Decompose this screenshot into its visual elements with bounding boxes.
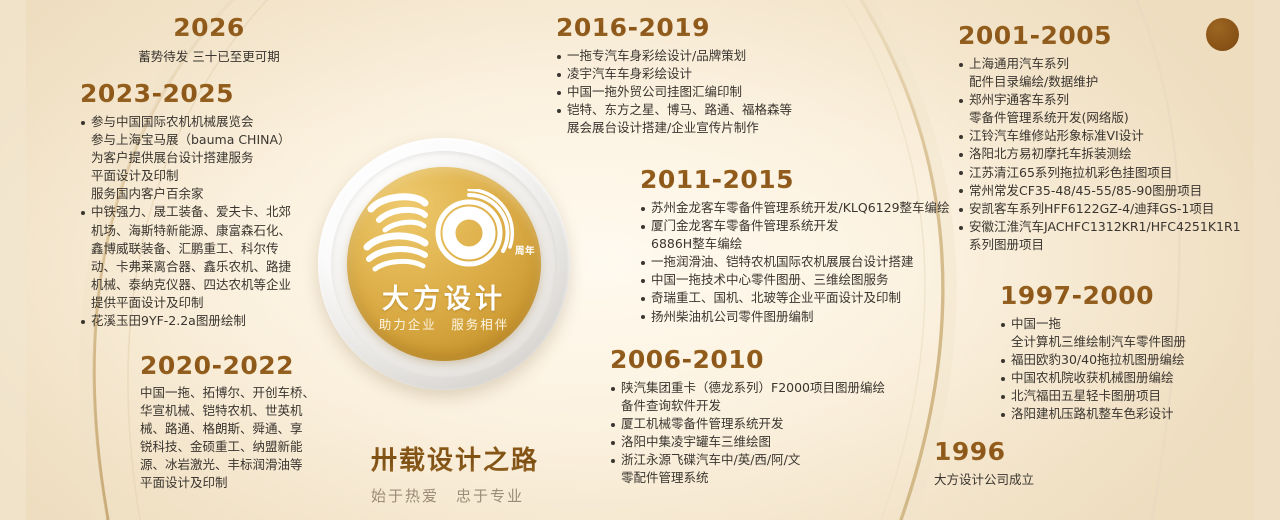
entry-lines-2023-2025: 参与中国国际农机机械展览会 参与上海宝马展（bauma CHINA） 为客户提供…: [80, 113, 350, 331]
anniversary-timeline-poster: 2026 蓄势待发 三十已至更可期 2023-2025 参与中国国际农机机械展览…: [0, 0, 1280, 520]
timeline-entry-1997-2000: 1997-2000 中国一拖 全计算机三维绘制汽车零件图册 福田欧豹30/40拖…: [1000, 282, 1270, 424]
entry-line: 一拖润滑油、铠特农机国际农机展展台设计搭建: [640, 253, 970, 271]
entry-line: 郑州宇通客车系列: [958, 91, 1268, 109]
entry-line: 平面设计及印制: [140, 474, 370, 492]
entry-line: 提供平面设计及印制: [80, 294, 350, 312]
brand-tagline: 助力企业 服务相伴: [347, 314, 541, 333]
entry-lines-2020-2022: 中国一拖、拓博尔、开创车桥、 华宣机械、铠特农机、世英机 械、路通、格朗斯、舜通…: [140, 384, 370, 493]
timeline-entry-2011-2015: 2011-2015 苏州金龙客车零备件管理系统开发/KLQ6129整车编绘 厦门…: [640, 166, 970, 326]
entry-line: 中国一拖外贸公司挂图汇编印制: [556, 83, 856, 101]
timeline-entry-2016-2019: 2016-2019 一拖专汽车身彩绘设计/品牌策划 凌宇汽车车身彩绘设计 中国一…: [556, 14, 856, 137]
medallion-gold-disc: 周年 大方设计 助力企业 服务相伴: [347, 167, 541, 361]
year-heading-2026: 2026: [84, 14, 334, 42]
entry-line: 凌宇汽车车身彩绘设计: [556, 65, 856, 83]
entry-line: 扬州柴油机公司零件图册编制: [640, 308, 970, 326]
entry-line: 洛阳建机压路机整车色彩设计: [1000, 405, 1270, 423]
entry-line: 一拖专汽车身彩绘设计/品牌策划: [556, 47, 856, 65]
entry-line: 蓄势待发 三十已至更可期: [84, 48, 334, 66]
poster-slogan: 卅载设计之路 始于热爱 忠于专业: [371, 440, 539, 506]
entry-line: 花溪玉田9YF-2.2a图册绘制: [80, 312, 350, 330]
entry-line: 全计算机三维绘制汽车零件图册: [1000, 333, 1270, 351]
year-heading-2011-2015: 2011-2015: [640, 166, 970, 195]
entry-line: 常州常发CF35-48/45-55/85-90图册项目: [958, 182, 1268, 200]
year-heading-1997-2000: 1997-2000: [1000, 282, 1270, 311]
entry-line: 参与中国国际农机机械展览会: [80, 113, 350, 131]
timeline-entry-1996: 1996 大方设计公司成立: [934, 438, 1154, 489]
year-heading-2023-2025: 2023-2025: [80, 80, 350, 109]
year-heading-2006-2010: 2006-2010: [610, 346, 930, 375]
slogan-headline: 卅载设计之路: [371, 440, 539, 477]
entry-line: 中国一拖: [1000, 315, 1270, 333]
entry-lines-1997-2000: 中国一拖 全计算机三维绘制汽车零件图册 福田欧豹30/40拖拉机图册编绘 中国农…: [1000, 315, 1270, 424]
entry-lines-2011-2015: 苏州金龙客车零备件管理系统开发/KLQ6129整车编绘 厦门金龙客车零备件管理系…: [640, 199, 970, 326]
entry-lines-2016-2019: 一拖专汽车身彩绘设计/品牌策划 凌宇汽车车身彩绘设计 中国一拖外贸公司挂图汇编印…: [556, 47, 856, 138]
entry-line: 大方设计公司成立: [934, 471, 1154, 489]
entry-line: 鑫博威联装备、汇鹏重工、科尔传: [80, 240, 350, 258]
entry-line: 源、冰岩激光、丰标润滑油等: [140, 456, 370, 474]
entry-line: 奇瑞重工、国机、北玻等企业平面设计及印制: [640, 289, 970, 307]
logo-30-icon: [363, 189, 525, 275]
entry-line: 配件目录编绘/数据维护: [958, 73, 1268, 91]
entry-line: 中国农机院收获机械图册编绘: [1000, 369, 1270, 387]
entry-lines-2006-2010: 陕汽集团重卡（德龙系列）F2000项目图册编绘 备件查询软件开发 厦工机械零备件…: [610, 379, 930, 488]
timeline-entry-2006-2010: 2006-2010 陕汽集团重卡（德龙系列）F2000项目图册编绘 备件查询软件…: [610, 346, 930, 488]
year-heading-2001-2005: 2001-2005: [958, 22, 1268, 51]
entry-line: 平面设计及印制: [80, 167, 350, 185]
slogan-subtext: 始于热爱 忠于专业: [371, 485, 539, 506]
entry-line: 展会展台设计搭建/企业宣传片制作: [556, 119, 856, 137]
entry-line: 零备件管理系统开发(网络版): [958, 109, 1268, 127]
entry-line: 厦工机械零备件管理系统开发: [610, 415, 930, 433]
entry-line: 洛阳中集凌宇罐车三维绘图: [610, 433, 930, 451]
entry-line: 福田欧豹30/40拖拉机图册编绘: [1000, 351, 1270, 369]
entry-line: 江苏清江65系列拖拉机彩色挂图项目: [958, 164, 1268, 182]
entry-line: 备件查询软件开发: [610, 397, 930, 415]
entry-line: 浙江永源飞碟汽车中/英/西/阿/文: [610, 451, 930, 469]
entry-line: 中铁强力、晟工装备、爱夫卡、北郊: [80, 203, 350, 221]
entry-line: 铠特、东方之星、博马、路通、福格森等: [556, 101, 856, 119]
year-heading-2016-2019: 2016-2019: [556, 14, 856, 43]
entry-line: 厦门金龙客车零备件管理系统开发: [640, 217, 970, 235]
year-heading-1996: 1996: [934, 438, 1154, 467]
entry-line: 机械、泰纳克仪器、四达农机等企业: [80, 276, 350, 294]
entry-lines-1996: 大方设计公司成立: [934, 471, 1154, 489]
timeline-entry-2026: 2026 蓄势待发 三十已至更可期: [84, 14, 334, 66]
entry-line: 械、路通、格朗斯、舜通、享: [140, 420, 370, 438]
entry-line: 上海通用汽车系列: [958, 55, 1268, 73]
entry-line: 苏州金龙客车零备件管理系统开发/KLQ6129整车编绘: [640, 199, 970, 217]
entry-line: 动、卡弗莱离合器、鑫乐农机、路捷: [80, 258, 350, 276]
entry-line: 安凯客车系列HFF6122GZ-4/迪拜GS-1项目: [958, 200, 1268, 218]
entry-line: 机场、海斯特新能源、康富森石化、: [80, 222, 350, 240]
brand-name: 大方设计: [347, 277, 541, 316]
entry-line: 参与上海宝马展（bauma CHINA）: [80, 131, 350, 149]
entry-lines-2026: 蓄势待发 三十已至更可期: [84, 48, 334, 66]
entry-line: 安徽江淮汽车JACHFC1312KR1/HFC4251K1R1: [958, 218, 1268, 236]
timeline-entry-2020-2022: 2020-2022 中国一拖、拓博尔、开创车桥、 华宣机械、铠特农机、世英机 械…: [140, 352, 370, 493]
entry-line: 中国一拖、拓博尔、开创车桥、: [140, 384, 370, 402]
entry-line: 为客户提供展台设计搭建服务: [80, 149, 350, 167]
year-heading-2020-2022: 2020-2022: [140, 352, 370, 381]
entry-line: 洛阳北方易初摩托车拆装测绘: [958, 145, 1268, 163]
entry-line: 锐科技、金硕重工、纳盟新能: [140, 438, 370, 456]
entry-line: 陕汽集团重卡（德龙系列）F2000项目图册编绘: [610, 379, 930, 397]
entry-line: 服务国内客户百余家: [80, 185, 350, 203]
timeline-entry-2023-2025: 2023-2025 参与中国国际农机机械展览会 参与上海宝马展（bauma CH…: [80, 80, 350, 330]
timeline-entry-2001-2005: 2001-2005 上海通用汽车系列 配件目录编绘/数据维护 郑州宇通客车系列 …: [958, 22, 1268, 254]
entry-line: 江铃汽车维修站形象标准VI设计: [958, 127, 1268, 145]
entry-lines-2001-2005: 上海通用汽车系列 配件目录编绘/数据维护 郑州宇通客车系列 零备件管理系统开发(…: [958, 55, 1268, 254]
entry-line: 中国一拖技术中心零件图册、三维绘图服务: [640, 271, 970, 289]
entry-line: 华宣机械、铠特农机、世英机: [140, 402, 370, 420]
entry-line: 系列图册项目: [958, 236, 1268, 254]
entry-line: 零配件管理系统: [610, 469, 930, 487]
anniversary-medallion: 周年 大方设计 助力企业 服务相伴: [318, 138, 570, 390]
entry-line: 6886H整车编绘: [640, 235, 970, 253]
anniversary-label: 周年: [515, 243, 535, 257]
entry-line: 北汽福田五星轻卡图册项目: [1000, 387, 1270, 405]
